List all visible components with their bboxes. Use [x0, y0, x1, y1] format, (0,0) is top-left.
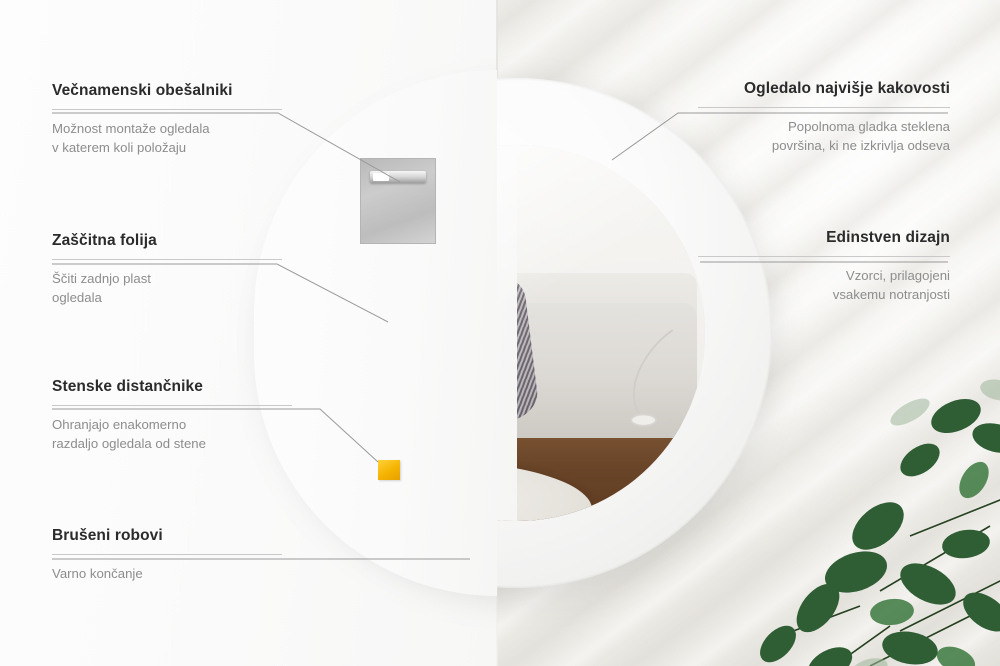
callout-hangers: Večnamenski obešalniki Možnost montaže o…: [52, 82, 282, 157]
callout-title: Zaščitna folija: [52, 232, 282, 250]
callout-wall-spacers: Stenske distančnike Ohranjajo enakomerno…: [52, 378, 292, 453]
callout-mirror-quality: Ogledalo najvišje kakovosti Popolnoma gl…: [698, 80, 950, 155]
callout-description: Vzorci, prilagojeni vsakemu notranjosti: [698, 267, 950, 304]
callout-description: Ohranjajo enakomerno razdaljo ogledala o…: [52, 416, 292, 453]
callout-rule: [52, 554, 282, 555]
callout-rule: [52, 259, 282, 260]
callout-protective-film: Zaščitna folija Ščiti zadnjo plast ogled…: [52, 232, 282, 307]
callout-description: Ščiti zadnjo plast ogledala: [52, 270, 282, 307]
callout-unique-design: Edinstven dizajn Vzorci, prilagojeni vsa…: [698, 229, 950, 304]
round-mirror: [262, 78, 772, 588]
hanger-back-panel: [360, 158, 436, 244]
callout-title: Brušeni robovi: [52, 527, 282, 545]
callout-polished-edges: Brušeni robovi Varno končanje: [52, 527, 282, 584]
foliage-decoration: [760, 376, 1000, 666]
callout-rule: [52, 109, 282, 110]
frame-product-side-overlay: [254, 70, 497, 596]
callout-description: Možnost montaže ogledala v katerem koli …: [52, 120, 282, 157]
callout-rule: [52, 405, 292, 406]
wall-spacer-chip: [378, 460, 400, 480]
callout-title: Ogledalo najvišje kakovosti: [698, 80, 950, 98]
callout-rule: [698, 256, 950, 257]
hanger-slot: [373, 173, 389, 181]
callout-description: Varno končanje: [52, 565, 282, 584]
reflected-hanging-wire: [585, 318, 698, 446]
leaves-icon: [760, 376, 1000, 666]
callout-rule: [698, 107, 950, 108]
callout-title: Stenske distančnike: [52, 378, 292, 396]
callout-title: Večnamenski obešalniki: [52, 82, 282, 100]
callout-description: Popolnoma gladka steklena površina, ki n…: [698, 118, 950, 155]
infographic-canvas: Večnamenski obešalniki Možnost montaže o…: [0, 0, 1000, 666]
callout-title: Edinstven dizajn: [698, 229, 950, 247]
